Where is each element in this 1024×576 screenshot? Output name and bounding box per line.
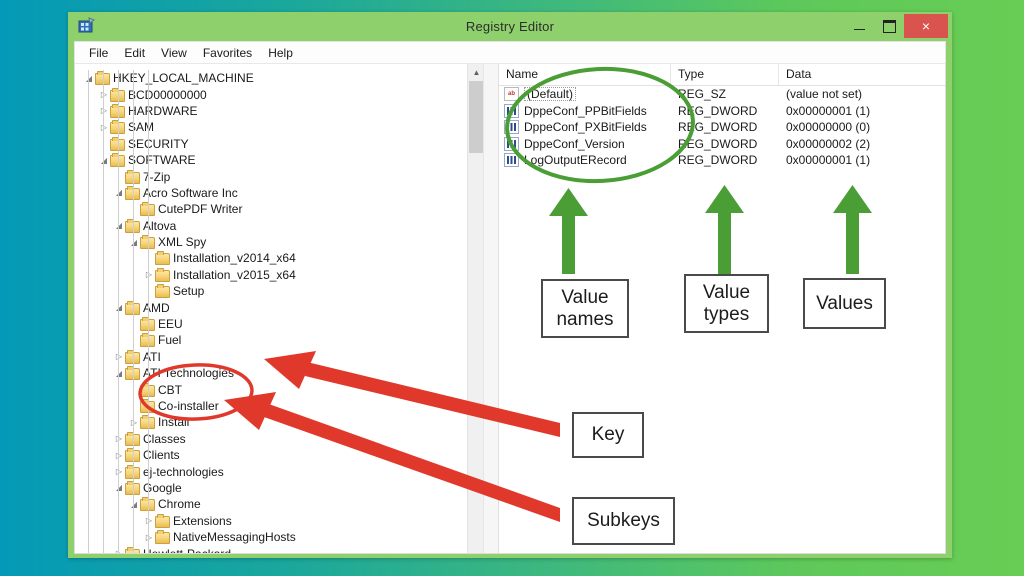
value-type: REG_DWORD (671, 137, 779, 151)
tree-item[interactable]: ▷SAM (75, 119, 499, 135)
tree-item-label: CutePDF Writer (158, 203, 242, 215)
annotation-line2: types (704, 304, 749, 325)
tree-item[interactable]: ▷Classes (75, 431, 499, 447)
folder-icon (140, 334, 154, 346)
value-name: (Default) (524, 87, 576, 101)
tree-item-label: Classes (143, 433, 186, 445)
tree-item[interactable]: ▷HARDWARE (75, 103, 499, 119)
chevron-right-icon[interactable]: ▷ (128, 416, 140, 428)
folder-icon (125, 171, 139, 183)
value-name: DppeConf_Version (524, 137, 625, 151)
folder-icon (140, 236, 154, 248)
registry-tree: ◢HKEY_LOCAL_MACHINE▷BCD00000000▷HARDWARE… (75, 64, 499, 553)
value-data: 0x00000000 (0) (779, 120, 945, 134)
window-controls: × (844, 14, 948, 38)
menu-item-view[interactable]: View (153, 44, 195, 62)
value-name: LogOutputERecord (524, 153, 627, 167)
folder-icon (140, 498, 154, 510)
tree-item-label: Extensions (173, 515, 232, 527)
chevron-down-icon[interactable]: ◢ (113, 220, 125, 232)
value-row[interactable]: DppeConf_PXBitFieldsREG_DWORD0x00000000 … (499, 119, 945, 136)
value-type: REG_SZ (671, 87, 779, 101)
folder-icon (95, 72, 109, 84)
tree-item-label: EEU (158, 318, 183, 330)
tree-item[interactable]: ◢Google (75, 480, 499, 496)
chevron-down-icon[interactable]: ◢ (113, 187, 125, 199)
folder-icon (140, 203, 154, 215)
chevron-right-icon[interactable]: ▷ (143, 269, 155, 281)
folder-icon (110, 89, 124, 101)
folder-icon (140, 318, 154, 330)
annotation-line1: Values (816, 293, 873, 314)
tree-item-label: Chrome (158, 498, 201, 510)
folder-icon (155, 285, 169, 297)
tree-item-label: ej-technologies (143, 466, 224, 478)
tree-guide-line (88, 70, 89, 553)
values-list: ab(Default)REG_SZ(value not set)DppeConf… (499, 86, 945, 169)
tree-item[interactable]: ▷Installation_v2015_x64 (75, 267, 499, 283)
annotation-box-key: Key (572, 412, 644, 458)
tree-item[interactable]: Setup (75, 283, 499, 299)
values-column-header: Name Type Data (499, 64, 945, 86)
annotation-line1: Key (592, 424, 625, 445)
folder-icon (125, 482, 139, 494)
annotation-box-values: Values (803, 278, 886, 329)
string-value-icon: ab (504, 87, 519, 101)
annotation-line1: Subkeys (587, 510, 660, 531)
folder-icon (125, 433, 139, 445)
tree-item-label: Installation_v2014_x64 (173, 252, 296, 264)
window-title: Registry Editor (68, 19, 952, 34)
tree-item-label: Setup (173, 285, 204, 297)
tree-item-label: SOFTWARE (128, 154, 196, 166)
tree-item-label: SECURITY (128, 138, 189, 150)
chevron-down-icon[interactable]: ◢ (98, 154, 110, 166)
dword-value-icon (504, 104, 519, 118)
dword-value-icon (504, 153, 519, 167)
tree-item[interactable]: Installation_v2014_x64 (75, 250, 499, 266)
tree-item-label: Co-installer (158, 400, 219, 412)
folder-icon (140, 384, 154, 396)
close-icon: × (922, 18, 930, 34)
tree-item-label: SAM (128, 121, 154, 133)
tree-item[interactable]: ◢AMD (75, 299, 499, 315)
value-data: 0x00000001 (1) (779, 104, 945, 118)
tree-item-label: HKEY_LOCAL_MACHINE (113, 72, 254, 84)
chevron-right-icon[interactable]: ▷ (113, 351, 125, 363)
annotation-line1: Value (561, 287, 608, 308)
tree-item[interactable]: ▷Install (75, 414, 499, 430)
tree-item[interactable]: ▷Clients (75, 447, 499, 463)
tree-item-label: CBT (158, 384, 182, 396)
tree-guide-line (133, 70, 134, 553)
tree-item[interactable]: CutePDF Writer (75, 201, 499, 217)
maximize-icon (883, 20, 896, 33)
menu-item-help[interactable]: Help (260, 44, 301, 62)
tree-item-label: BCD00000000 (128, 89, 207, 101)
value-type: REG_DWORD (671, 120, 779, 134)
value-data: 0x00000001 (1) (779, 153, 945, 167)
value-row[interactable]: DppeConf_PPBitFieldsREG_DWORD0x00000001 … (499, 103, 945, 120)
tree-item[interactable]: EEU (75, 316, 499, 332)
annotation-line2: names (556, 309, 613, 330)
annotation-box-value-types: Value types (684, 274, 769, 333)
chevron-right-icon[interactable]: ▷ (143, 515, 155, 527)
value-row[interactable]: DppeConf_VersionREG_DWORD0x00000002 (2) (499, 136, 945, 153)
folder-icon (155, 531, 169, 543)
chevron-right-icon[interactable]: ▷ (98, 121, 110, 133)
folder-icon (125, 367, 139, 379)
tree-item[interactable]: CBT (75, 381, 499, 397)
folder-icon (155, 269, 169, 281)
chevron-right-icon[interactable]: ▷ (113, 433, 125, 445)
tree-guide-line (103, 70, 104, 553)
tree-item-label: ATI (143, 351, 161, 363)
scrollbar-thumb[interactable] (469, 81, 484, 153)
folder-icon (125, 466, 139, 478)
tree-item-label: NativeMessagingHosts (173, 531, 296, 543)
tree-item[interactable]: ◢Acro Software Inc (75, 185, 499, 201)
tree-item[interactable]: ▷BCD00000000 (75, 86, 499, 102)
tree-item-label: Fuel (158, 334, 181, 346)
folder-icon (155, 515, 169, 527)
tree-item-label: Install (158, 416, 189, 428)
chevron-down-icon[interactable]: ◢ (113, 482, 125, 494)
annotation-box-value-names: Value names (541, 279, 629, 338)
registry-tree-pane[interactable]: ◢HKEY_LOCAL_MACHINE▷BCD00000000▷HARDWARE… (75, 64, 499, 553)
folder-icon (110, 105, 124, 117)
value-type: REG_DWORD (671, 104, 779, 118)
value-row[interactable]: LogOutputERecordREG_DWORD0x00000001 (1) (499, 152, 945, 169)
tree-item[interactable]: ◢Chrome (75, 496, 499, 512)
tree-item[interactable]: Fuel (75, 332, 499, 348)
folder-icon (110, 121, 124, 133)
tree-item[interactable]: ◢ATI Technologies (75, 365, 499, 381)
tree-item[interactable]: ▷ej-technologies (75, 463, 499, 479)
value-name: DppeConf_PPBitFields (524, 104, 647, 118)
maximize-button[interactable] (874, 15, 904, 38)
tree-item[interactable]: Co-installer (75, 398, 499, 414)
value-name: DppeConf_PXBitFields (524, 120, 647, 134)
chevron-right-icon[interactable]: ▷ (143, 531, 155, 543)
tree-item-label: Installation_v2015_x64 (173, 269, 296, 281)
tree-item[interactable]: ▷Extensions (75, 513, 499, 529)
chevron-right-icon[interactable]: ▷ (113, 449, 125, 461)
tree-item[interactable]: ◢XML Spy (75, 234, 499, 250)
value-row[interactable]: ab(Default)REG_SZ(value not set) (499, 86, 945, 103)
folder-icon (110, 154, 124, 166)
column-header-data[interactable]: Data (779, 64, 945, 85)
tree-item-label: Acro Software Inc (143, 187, 238, 199)
chevron-right-icon[interactable]: ▷ (113, 466, 125, 478)
tree-guide-line (148, 70, 149, 553)
folder-icon (125, 220, 139, 232)
annotation-line1: Value (703, 282, 750, 303)
chevron-right-icon[interactable]: ▷ (113, 548, 125, 553)
chevron-right-icon[interactable]: ▷ (98, 105, 110, 117)
folder-icon (110, 138, 124, 150)
tree-item-label: HARDWARE (128, 105, 198, 117)
chevron-down-icon[interactable]: ◢ (113, 302, 125, 314)
tree-item-label: AMD (143, 302, 170, 314)
menu-item-favorites[interactable]: Favorites (195, 44, 260, 62)
tree-item[interactable]: ◢HKEY_LOCAL_MACHINE (75, 70, 499, 86)
tree-item[interactable]: ▷NativeMessagingHosts (75, 529, 499, 545)
folder-icon (140, 400, 154, 412)
chevron-down-icon[interactable]: ◢ (83, 72, 95, 84)
minimize-button[interactable] (844, 15, 874, 38)
value-data: 0x00000002 (2) (779, 137, 945, 151)
column-header-name[interactable]: Name (499, 64, 671, 85)
folder-icon (125, 449, 139, 461)
folder-icon (125, 302, 139, 314)
folder-icon (155, 252, 169, 264)
tree-item[interactable]: ▷Hewlett-Packard (75, 545, 499, 553)
tree-item[interactable]: ◢Altova (75, 218, 499, 234)
dword-value-icon (504, 137, 519, 151)
folder-icon (125, 548, 139, 553)
tree-item[interactable]: ▷ATI (75, 349, 499, 365)
folder-icon (125, 187, 139, 199)
folder-icon (125, 351, 139, 363)
folder-icon (140, 416, 154, 428)
tree-item[interactable]: ◢SOFTWARE (75, 152, 499, 168)
chevron-down-icon[interactable]: ◢ (128, 236, 140, 248)
column-header-type[interactable]: Type (671, 64, 779, 85)
tree-item-label: ATI Technologies (143, 367, 234, 379)
pane-splitter[interactable] (483, 64, 499, 553)
minimize-icon (854, 29, 865, 31)
value-type: REG_DWORD (671, 153, 779, 167)
tree-item-label: XML Spy (158, 236, 206, 248)
chevron-right-icon[interactable]: ▷ (98, 89, 110, 101)
menu-item-edit[interactable]: Edit (116, 44, 153, 62)
tree-item-label: Hewlett-Packard (143, 548, 231, 553)
chevron-down-icon[interactable]: ◢ (128, 498, 140, 510)
menu-bar: File Edit View Favorites Help (74, 41, 946, 63)
chevron-down-icon[interactable]: ◢ (113, 367, 125, 379)
annotation-box-subkeys: Subkeys (572, 497, 675, 545)
menu-item-file[interactable]: File (81, 44, 116, 62)
tree-item[interactable]: 7-Zip (75, 168, 499, 184)
tree-item[interactable]: SECURITY (75, 136, 499, 152)
dword-value-icon (504, 120, 519, 134)
close-button[interactable]: × (904, 14, 948, 38)
value-data: (value not set) (779, 87, 945, 101)
tree-guide-line (118, 70, 119, 553)
title-bar[interactable]: Registry Editor × (68, 12, 952, 41)
